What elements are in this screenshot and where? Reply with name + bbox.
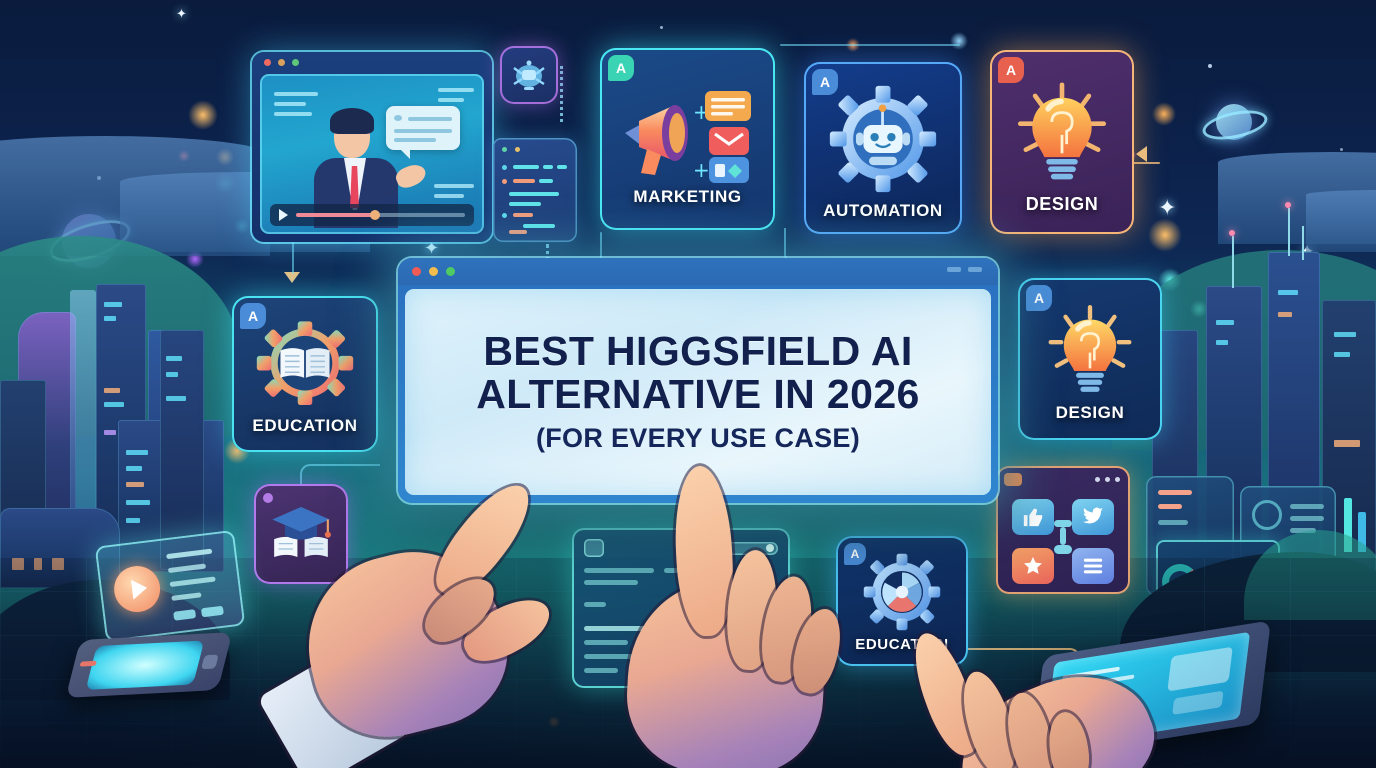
robot-gear-icon (828, 84, 938, 199)
smartphone-device[interactable] (66, 632, 233, 698)
social-network-panel[interactable] (996, 466, 1130, 594)
card-design-right[interactable]: A DESIGN (1018, 278, 1162, 440)
gear-wheel-icon (863, 553, 941, 636)
badge-a: A (240, 303, 266, 329)
pointing-hand-right (906, 630, 1156, 768)
play-icon[interactable] (111, 563, 162, 614)
speech-bubble-icon (386, 106, 460, 150)
card-label: MARKETING (633, 187, 741, 207)
video-controls[interactable] (270, 204, 474, 226)
smartphone-hologram (95, 530, 246, 642)
card-education-left[interactable]: A (232, 296, 378, 452)
pointing-hand-center (606, 472, 856, 768)
lightbulb-icon (1042, 302, 1138, 403)
star-icon[interactable] (1012, 548, 1054, 584)
badge-a: A (1026, 285, 1052, 311)
video-frame (260, 74, 484, 234)
app-icon (1004, 473, 1022, 486)
card-marketing[interactable]: A + + (600, 48, 775, 230)
card-design-top[interactable]: A DESIGN (990, 50, 1134, 234)
video-player-panel[interactable] (252, 52, 492, 242)
card-label: DESIGN (1056, 403, 1125, 423)
badge-a: A (812, 69, 838, 95)
pointing-hand-left (276, 462, 606, 768)
titlebar-marks (947, 267, 982, 272)
window-dot-green (292, 59, 299, 66)
thumbs-up-icon[interactable] (1012, 499, 1054, 535)
lightbulb-icon (1011, 77, 1113, 194)
window-dots (1095, 477, 1120, 482)
card-label: DESIGN (1026, 194, 1099, 215)
window-dot-yellow (278, 59, 285, 66)
browser-titlebar (398, 258, 998, 285)
twitter-bird-icon[interactable] (1072, 499, 1114, 535)
home-button[interactable] (201, 655, 219, 670)
card-label: AUTOMATION (823, 201, 943, 221)
page-title-line-2: ALTERNATIVE IN 2026 (476, 373, 920, 415)
window-dot-red[interactable] (412, 267, 421, 276)
play-icon[interactable] (279, 209, 288, 221)
page-title-line-1: BEST HIGGSFIELD AI (483, 330, 912, 372)
infographic-canvas: A + + (0, 0, 1376, 768)
book-gear-icon (255, 319, 355, 416)
hub-connector-icon (1052, 518, 1074, 558)
window-dot-red (264, 59, 271, 66)
megaphone-icon: + + (613, 77, 763, 187)
progress-track[interactable] (296, 213, 465, 217)
progress-knob[interactable] (370, 210, 380, 220)
page-subtitle: (FOR EVERY USE CASE) (536, 423, 860, 454)
badge-a: A (998, 57, 1024, 83)
svg-text:+: + (693, 158, 710, 182)
card-automation[interactable]: A (804, 62, 962, 234)
window-dot-yellow[interactable] (429, 267, 438, 276)
dot-indicator (263, 493, 273, 503)
phone-screen (86, 640, 205, 689)
ai-robot-icon[interactable] (500, 46, 558, 104)
code-document-panel[interactable] (493, 138, 577, 242)
card-label: EDUCATION (252, 416, 357, 436)
video-titlebar (252, 52, 492, 72)
list-icon[interactable] (1072, 548, 1114, 584)
window-dot-green[interactable] (446, 267, 455, 276)
cloud-shape (1306, 190, 1376, 252)
